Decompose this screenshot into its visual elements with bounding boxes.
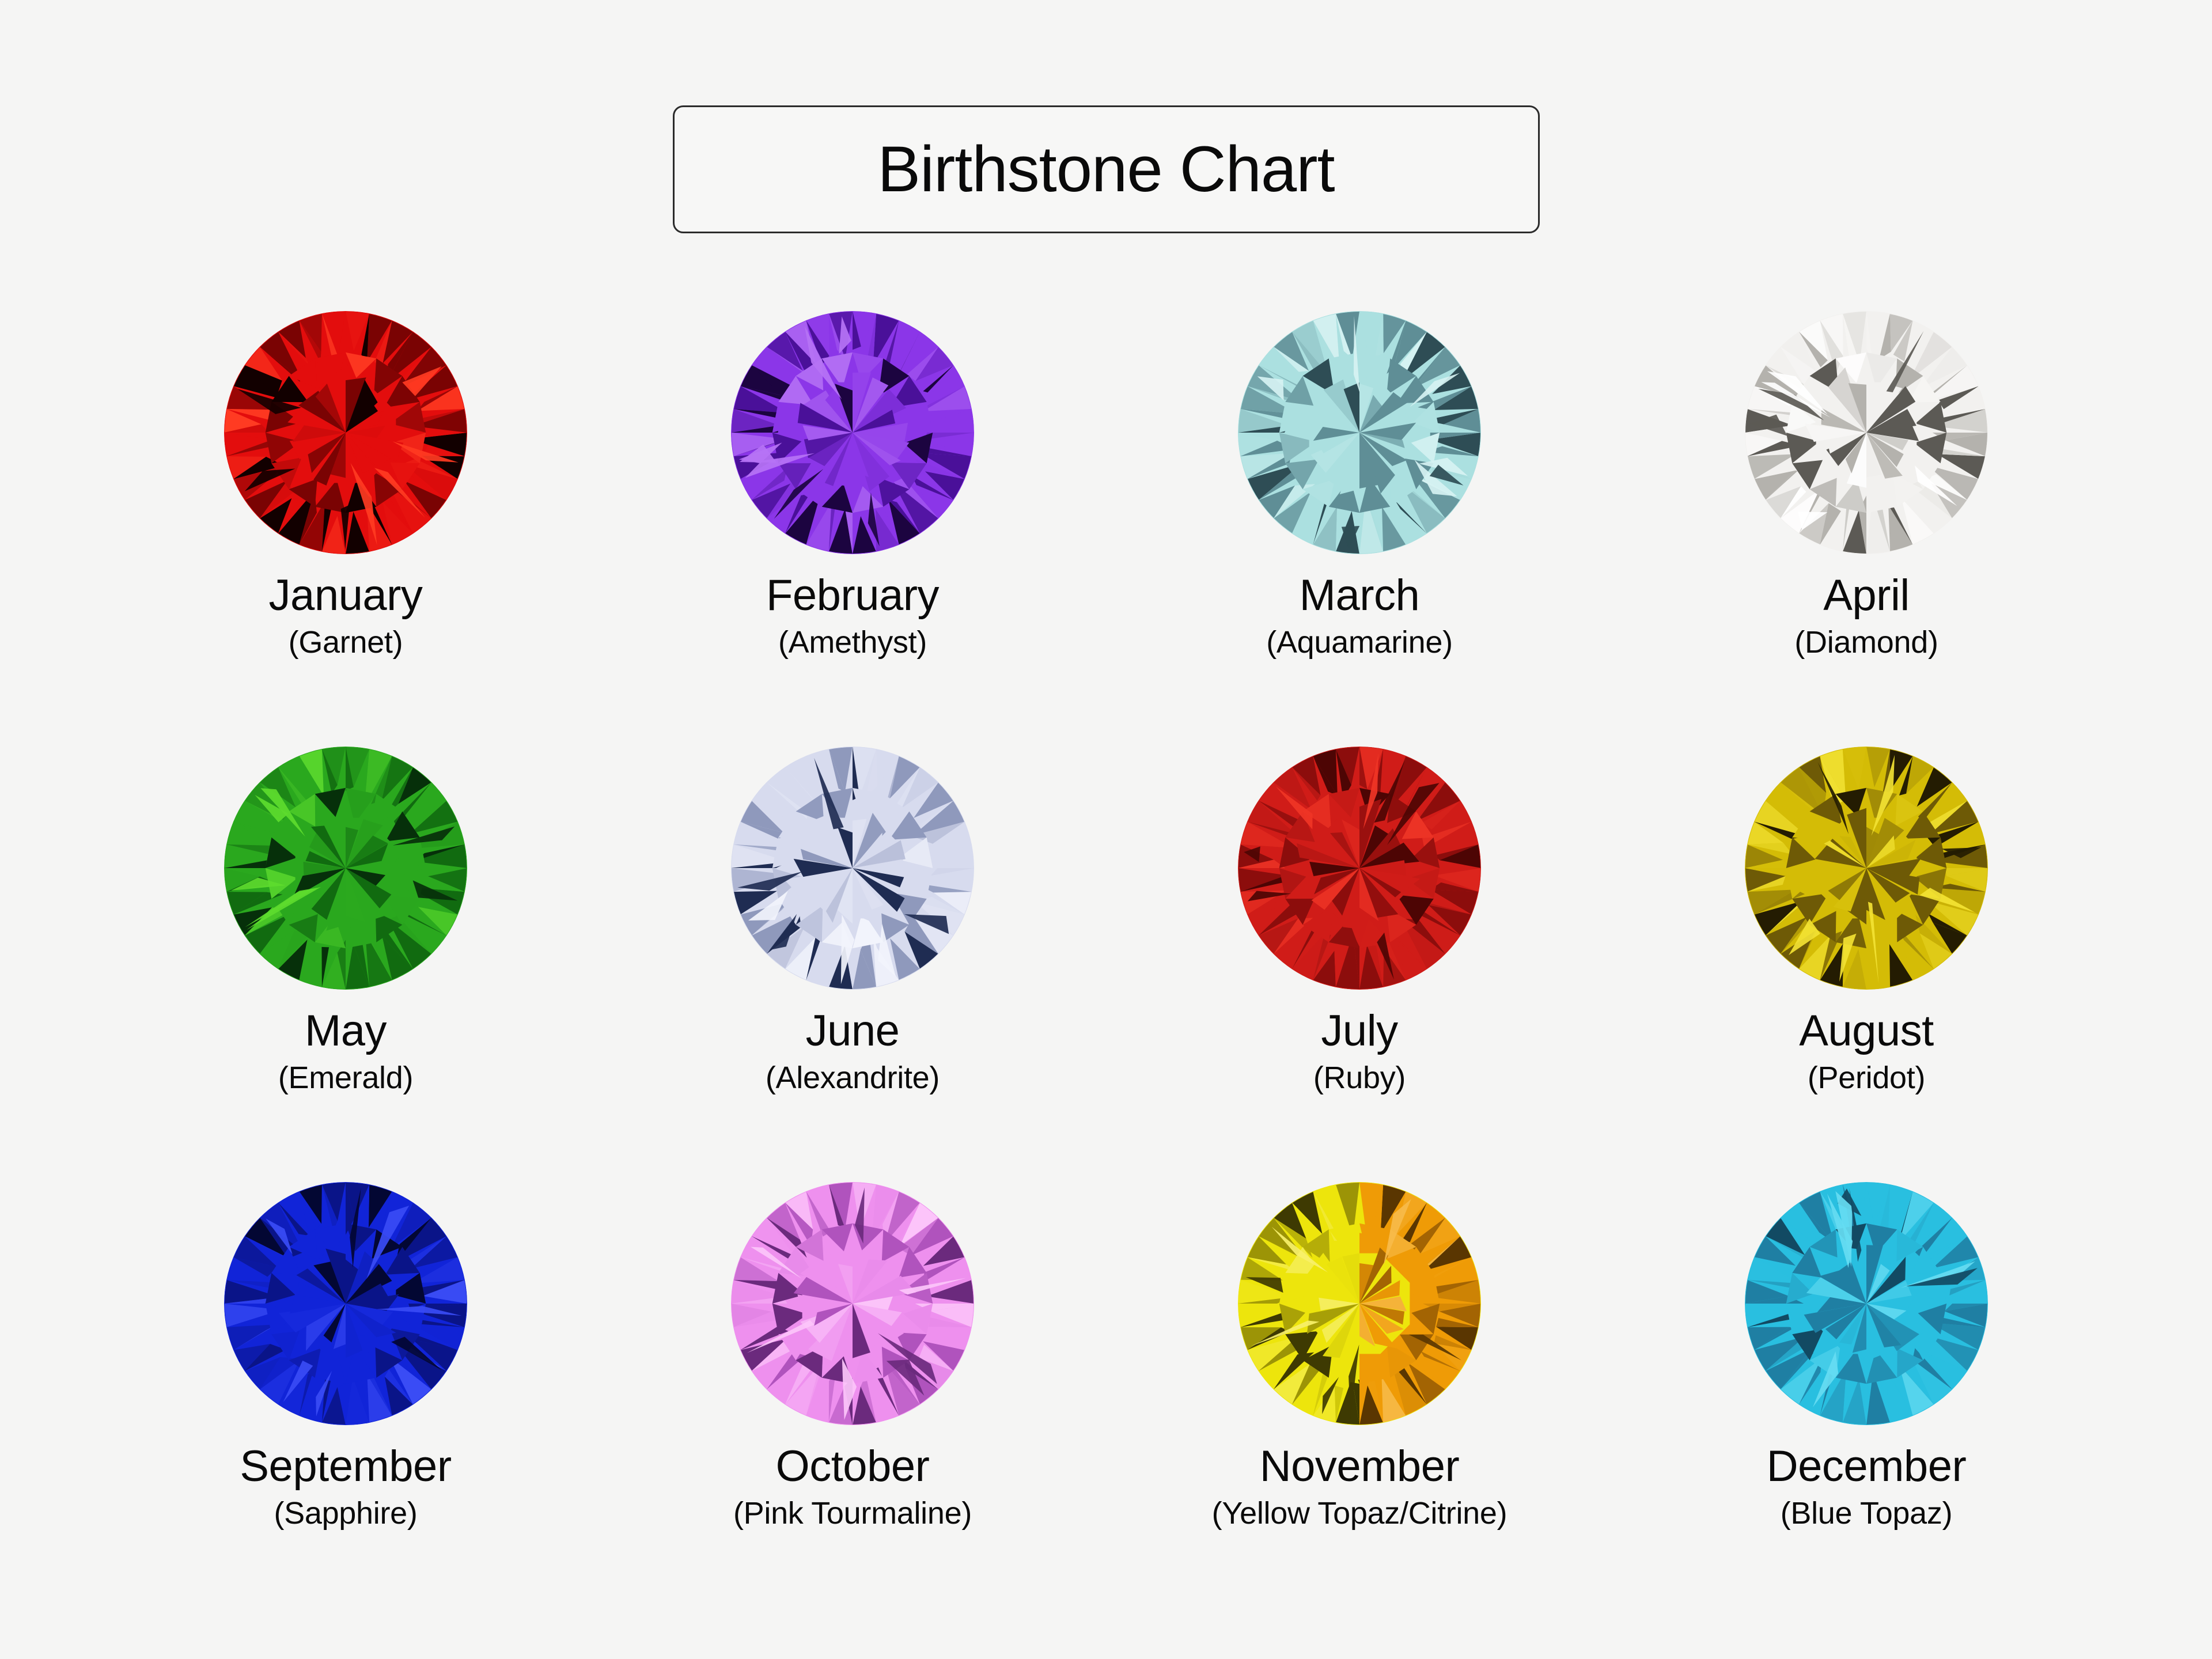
- month-label: October: [776, 1445, 930, 1488]
- stone-name-label: (Yellow Topaz/Citrine): [1212, 1498, 1508, 1529]
- birthstone-cell-december: December(Blue Topaz): [1613, 1182, 2120, 1618]
- gem-circle-icon: [1745, 747, 1988, 990]
- stone-name-label: (Pink Tourmaline): [733, 1498, 972, 1529]
- chart-header: Birthstone Chart: [0, 105, 2212, 233]
- birthstone-cell-january: January(Garnet): [92, 311, 599, 747]
- gem-circle-icon: [1745, 1182, 1988, 1425]
- birthstone-cell-august: August(Peridot): [1613, 747, 2120, 1182]
- birthstone-cell-april: April(Diamond): [1613, 311, 2120, 747]
- stone-name-label: (Ruby): [1313, 1062, 1406, 1093]
- month-label: September: [240, 1445, 451, 1488]
- stone-name-label: (Sapphire): [274, 1498, 417, 1529]
- gem-circle-icon: [224, 1182, 467, 1425]
- gem-circle-icon: [1238, 747, 1481, 990]
- gem-circle-icon: [731, 1182, 974, 1425]
- stone-name-label: (Garnet): [289, 627, 403, 658]
- stone-name-label: (Amethyst): [778, 627, 927, 658]
- gem-circle-icon: [1238, 1182, 1481, 1425]
- stone-name-label: (Peridot): [1808, 1062, 1925, 1093]
- birthstone-cell-july: July(Ruby): [1106, 747, 1613, 1182]
- gem-circle-icon: [731, 311, 974, 554]
- birthstone-cell-june: June(Alexandrite): [599, 747, 1106, 1182]
- month-label: April: [1823, 574, 1910, 618]
- stone-name-label: (Diamond): [1794, 627, 1938, 658]
- gem-circle-icon: [1238, 311, 1481, 554]
- birthstone-grid: January(Garnet) February(Amethyst) March…: [92, 311, 2120, 1618]
- stone-name-label: (Emerald): [278, 1062, 413, 1093]
- stone-name-label: (Blue Topaz): [1781, 1498, 1953, 1529]
- stone-name-label: (Alexandrite): [766, 1062, 940, 1093]
- stone-name-label: (Aquamarine): [1266, 627, 1453, 658]
- gem-circle-icon: [224, 747, 467, 990]
- birthstone-cell-february: February(Amethyst): [599, 311, 1106, 747]
- month-label: February: [766, 574, 939, 618]
- month-label: November: [1260, 1445, 1460, 1488]
- gem-circle-icon: [224, 311, 467, 554]
- page-title: Birthstone Chart: [877, 137, 1334, 202]
- gem-circle-icon: [731, 747, 974, 990]
- gem-circle-icon: [1745, 311, 1988, 554]
- birthstone-cell-march: March(Aquamarine): [1106, 311, 1613, 747]
- birthstone-cell-september: September(Sapphire): [92, 1182, 599, 1618]
- birthstone-cell-october: October(Pink Tourmaline): [599, 1182, 1106, 1618]
- birthstone-cell-may: May(Emerald): [92, 747, 599, 1182]
- month-label: July: [1321, 1009, 1397, 1053]
- month-label: May: [305, 1009, 387, 1053]
- month-label: August: [1799, 1009, 1934, 1053]
- birthstone-cell-november: November(Yellow Topaz/Citrine): [1106, 1182, 1613, 1618]
- month-label: January: [269, 574, 423, 618]
- month-label: March: [1300, 574, 1420, 618]
- month-label: June: [806, 1009, 900, 1053]
- title-box: Birthstone Chart: [673, 105, 1540, 233]
- month-label: December: [1767, 1445, 1967, 1488]
